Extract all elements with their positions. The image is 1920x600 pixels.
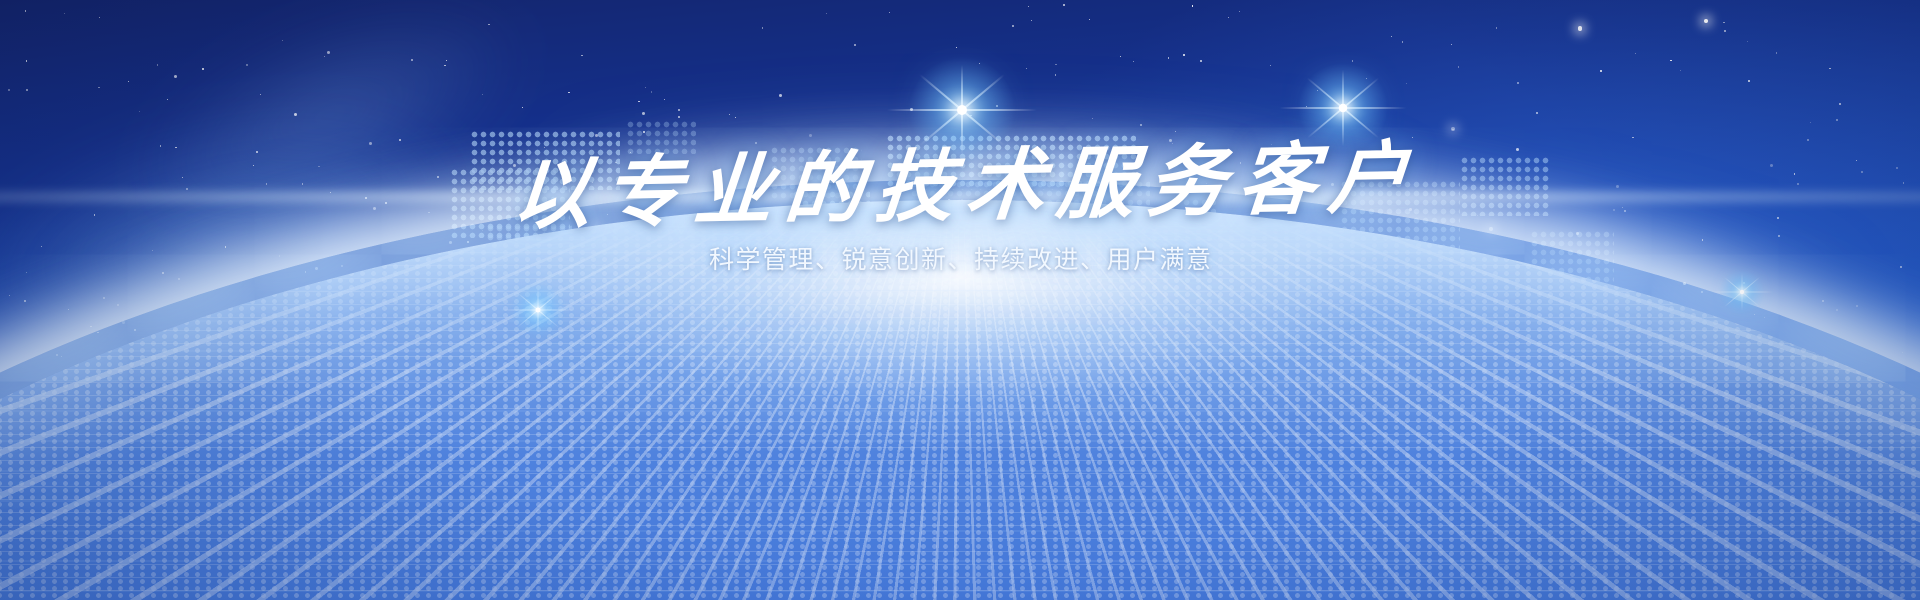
banner-headline: 以专业的技术服务客户 xyxy=(0,130,1920,245)
banner-subtitle: 科学管理、锐意创新、持续改进、用户满意 xyxy=(0,248,1920,273)
banner-content: 以专业的技术服务客户 科学管理、锐意创新、持续改进、用户满意 xyxy=(0,0,1920,600)
hero-banner: 以专业的技术服务客户 科学管理、锐意创新、持续改进、用户满意 xyxy=(0,0,1920,600)
